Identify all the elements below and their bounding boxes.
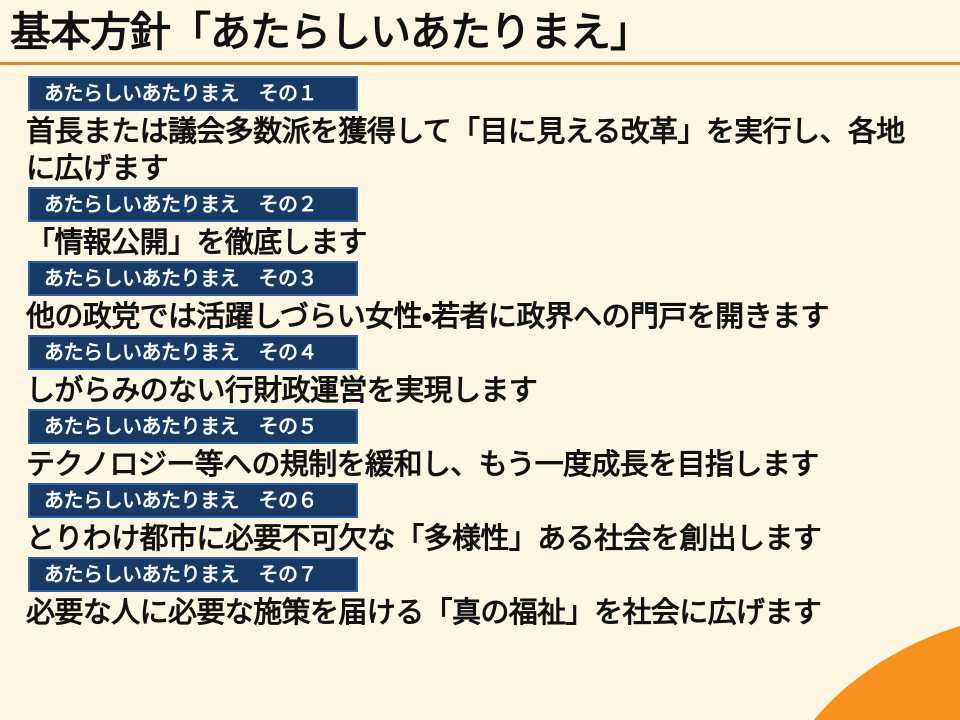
policy-points-list: あたらしいあたりまえ その１首長または議会多数派を獲得して「目に見える改革」を実… — [0, 76, 960, 631]
policy-point-text: 「情報公開」を徹底します — [26, 224, 960, 261]
policy-point-item: あたらしいあたりまえ その２「情報公開」を徹底します — [0, 187, 960, 261]
slide-header: 基本方針「あたらしいあたりまえ」 — [0, 0, 960, 68]
policy-point-text: 首長または議会多数派を獲得して「目に見える改革」を実行し、各地に広げます — [26, 113, 946, 187]
policy-point-item: あたらしいあたりまえ その５テクノロジー等への規制を緩和し、もう一度成長を目指し… — [0, 409, 960, 483]
policy-point-badge: あたらしいあたりまえ その７ — [28, 557, 358, 592]
policy-point-badge: あたらしいあたりまえ その６ — [28, 483, 358, 518]
policy-point-badge: あたらしいあたりまえ その４ — [28, 335, 358, 370]
policy-point-item: あたらしいあたりまえ その１首長または議会多数派を獲得して「目に見える改革」を実… — [0, 76, 960, 187]
title-divider-rule — [0, 62, 960, 65]
policy-point-text: テクノロジー等への規制を緩和し、もう一度成長を目指します — [26, 446, 960, 483]
policy-point-item: あたらしいあたりまえ その６とりわけ都市に必要不可欠な「多様性」ある社会を創出し… — [0, 483, 960, 557]
policy-point-item: あたらしいあたりまえ その７必要な人に必要な施策を届ける「真の福祉」を社会に広げ… — [0, 557, 960, 631]
policy-point-badge: あたらしいあたりまえ その３ — [28, 261, 358, 296]
page-title: 基本方針「あたらしいあたりまえ」 — [10, 6, 650, 58]
policy-point-badge: あたらしいあたりまえ その５ — [28, 409, 358, 444]
policy-point-text: 必要な人に必要な施策を届ける「真の福祉」を社会に広げます — [26, 594, 960, 631]
policy-point-item: あたらしいあたりまえ その４しがらみのない行財政運営を実現します — [0, 335, 960, 409]
policy-point-text: とりわけ都市に必要不可欠な「多様性」ある社会を創出します — [26, 520, 960, 557]
slide-canvas: 基本方針「あたらしいあたりまえ」 あたらしいあたりまえ その１首長または議会多数… — [0, 0, 960, 720]
policy-point-badge: あたらしいあたりまえ その２ — [28, 187, 358, 222]
policy-point-text: しがらみのない行財政運営を実現します — [26, 372, 960, 409]
policy-point-item: あたらしいあたりまえ その３他の政党では活躍しづらい女性・若者に政界への門戸を開… — [0, 261, 960, 335]
policy-point-text: 他の政党では活躍しづらい女性・若者に政界への門戸を開きます — [26, 298, 960, 335]
policy-point-badge: あたらしいあたりまえ その１ — [28, 76, 358, 111]
